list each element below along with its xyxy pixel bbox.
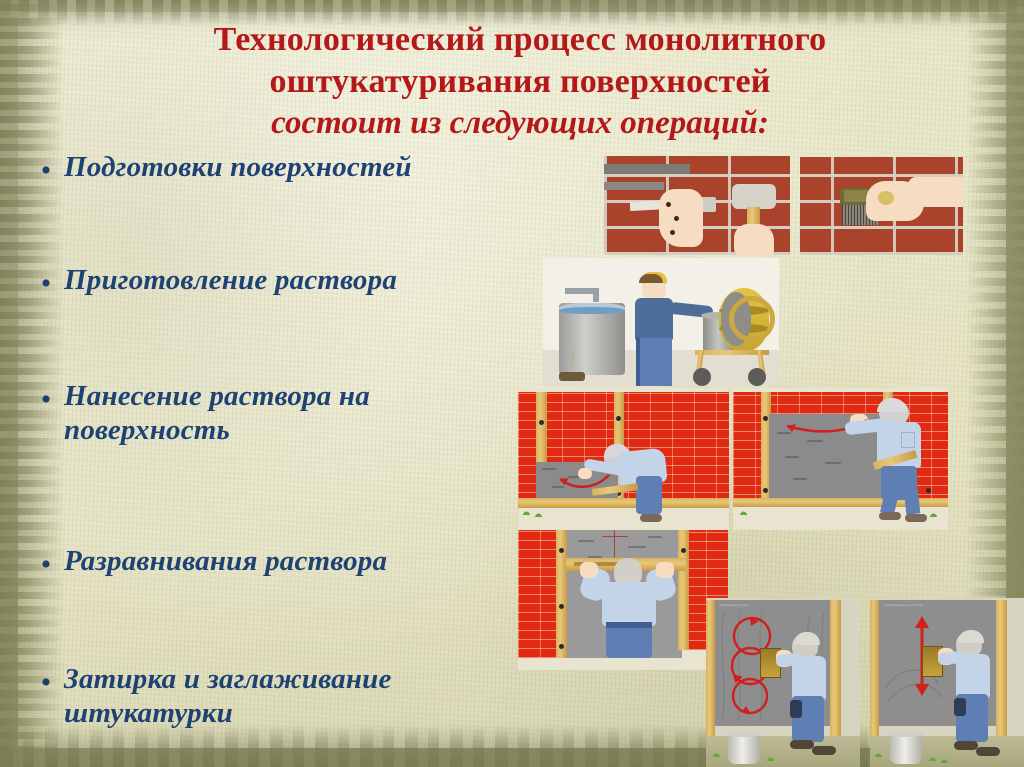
illustration-wire-brush-on-brick-wall: [800, 157, 963, 255]
list-item-label: Подготовки поверхностей: [64, 150, 412, 184]
illustration-float-vertical-motion: Заглаживание вразгонку: [870, 598, 1024, 767]
panel-caption: Заглаживание вразгонку: [884, 603, 923, 607]
list-item-label: Разравнивания раствора: [64, 544, 387, 578]
slide-title: Технологический процесс монолитного ошту…: [120, 22, 920, 141]
list-item-label: Приготовление раствора: [64, 263, 397, 297]
illustration-worker-applying-mortar-low-section: [518, 388, 729, 530]
illustration-worker-screeding-mortar-with-straightedge: [518, 530, 728, 670]
bullet-marker-icon: •: [28, 544, 64, 580]
list-item-label: Нанесение раствора на поверхность: [64, 379, 464, 447]
bullet-marker-icon: •: [28, 662, 64, 698]
slide: Технологический процесс монолитного ошту…: [0, 0, 1024, 767]
bullet-marker-icon: •: [28, 263, 64, 299]
list-item: • Затирка и заглаживание штукатурки: [28, 662, 548, 730]
list-item: • Разравнивания раствора: [28, 544, 548, 662]
illustration-worker-applying-mortar-upper-section: [733, 388, 948, 530]
illustration-chisel-and-hammer-on-brick-wall: [604, 156, 790, 255]
operations-list: • Подготовки поверхностей • Приготовлени…: [28, 150, 548, 730]
list-item: • Подготовки поверхностей: [28, 150, 548, 263]
list-item: • Приготовление раствора: [28, 263, 548, 379]
bullet-marker-icon: •: [28, 150, 64, 186]
title-line-2: оштукатуривания поверхностей: [120, 64, 920, 100]
title-line-1: Технологический процесс монолитного: [120, 22, 920, 58]
illustration-worker-with-concrete-mixer-and-water-barrel: [543, 258, 779, 386]
list-item-label: Затирка и заглаживание штукатурки: [64, 662, 484, 730]
illustration-float-circular-motion: Затирка вкруговую: [706, 598, 860, 767]
list-item: • Нанесение раствора на поверхность: [28, 379, 548, 544]
bullet-marker-icon: •: [28, 379, 64, 415]
title-line-3: состоит из следующих операций:: [120, 106, 920, 141]
